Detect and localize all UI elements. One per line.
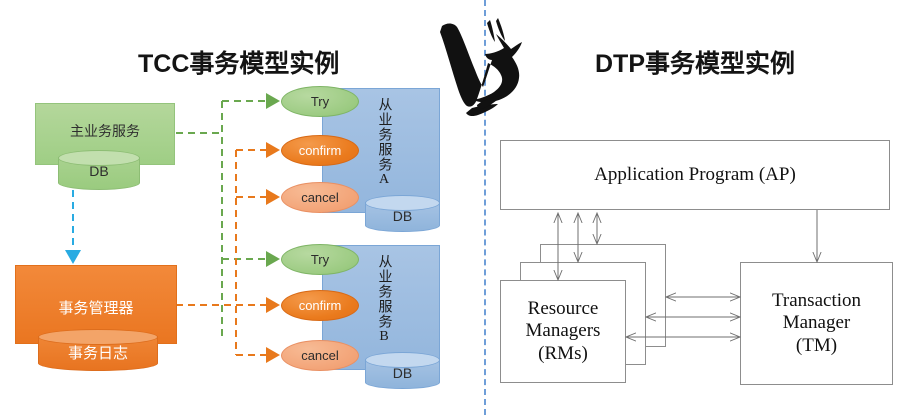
slave-service-a-label: 从业务服务A (375, 97, 392, 188)
rm-line-3: (RMs) (538, 343, 588, 364)
tm-line-3: (TM) (796, 335, 837, 356)
main-service-db-cylinder[interactable]: DB (58, 150, 140, 190)
rm-line-1: Resource (528, 298, 599, 319)
resource-managers-label: Resource Managers (RMs) (526, 298, 601, 365)
transaction-manager-label: 事务管理器 (16, 297, 176, 318)
slave-service-b-db-label: DB (365, 365, 440, 381)
transaction-manager-tm-label: Transaction Manager (TM) (772, 290, 861, 357)
slave-service-b-db-cylinder[interactable]: DB (365, 352, 440, 389)
slave-a-try-action[interactable]: Try (281, 86, 359, 117)
application-program-box[interactable]: Application Program (AP) (500, 140, 890, 210)
slave-b-confirm-label: confirm (299, 298, 342, 313)
page-title-dtp: DTP事务模型实例 (595, 44, 795, 80)
slave-a-confirm-label: confirm (299, 143, 342, 158)
transaction-manager-tm-box[interactable]: Transaction Manager (TM) (740, 262, 893, 385)
slave-a-confirm-action[interactable]: confirm (281, 135, 359, 166)
slave-b-cancel-label: cancel (301, 348, 339, 363)
tm-line-1: Transaction (772, 290, 861, 311)
application-program-label: Application Program (AP) (594, 164, 796, 186)
page-title-tcc: TCC事务模型实例 (138, 44, 339, 80)
transaction-log-label: 事务日志 (38, 342, 158, 363)
diagram-canvas: TCC事务模型实例 DTP事务模型实例 (0, 0, 905, 415)
slave-a-cancel-label: cancel (301, 190, 339, 205)
slave-b-try-action[interactable]: Try (281, 244, 359, 275)
slave-service-a-db-label: DB (365, 208, 440, 224)
slave-service-b-label: 从业务服务B (375, 254, 392, 345)
resource-managers-box[interactable]: Resource Managers (RMs) (500, 280, 626, 383)
main-service-db-label: DB (58, 163, 140, 179)
tm-line-2: Manager (783, 312, 851, 333)
slave-a-try-label: Try (311, 94, 329, 109)
slave-b-try-label: Try (311, 252, 329, 267)
rm-line-2: Managers (526, 320, 601, 341)
slave-b-cancel-action[interactable]: cancel (281, 340, 359, 371)
main-business-service-label: 主业务服务 (36, 121, 174, 141)
transaction-log-cylinder[interactable]: 事务日志 (38, 329, 158, 371)
slave-a-cancel-action[interactable]: cancel (281, 182, 359, 213)
slave-service-a-db-cylinder[interactable]: DB (365, 195, 440, 232)
slave-b-confirm-action[interactable]: confirm (281, 290, 359, 321)
vs-logo-icon (428, 8, 546, 126)
